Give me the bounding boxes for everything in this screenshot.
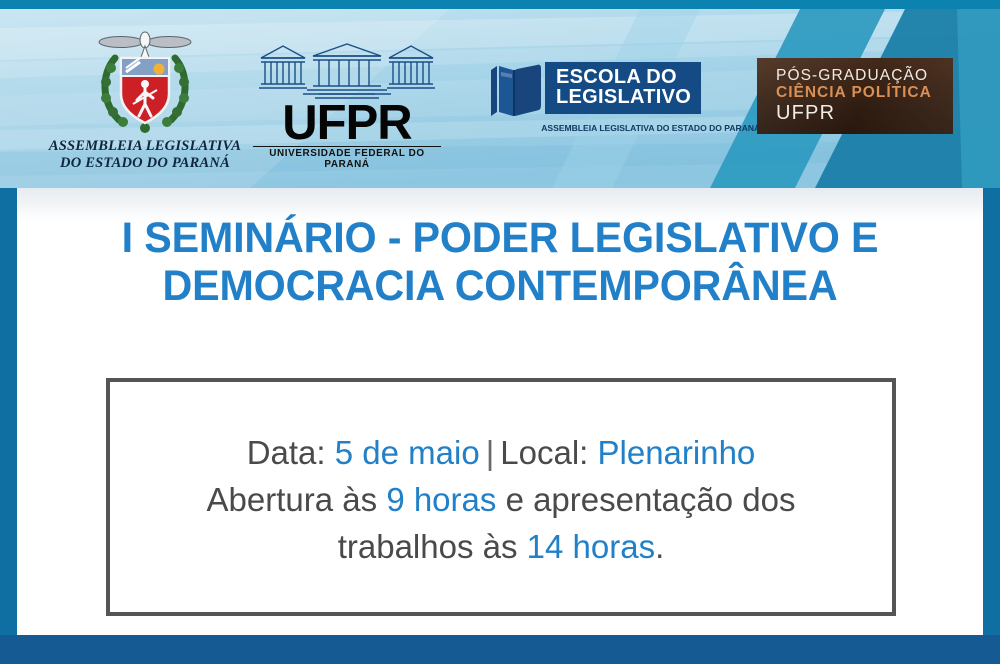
- pos-line-1: PÓS-GRADUAÇÃO: [776, 67, 953, 84]
- event-papers-line: trabalhos às 14 horas.: [110, 524, 892, 571]
- logo-pos-graduacao-ciencia-politica: PÓS-GRADUAÇÃO CIÊNCIA POLÍTICA UFPR: [757, 58, 953, 134]
- escola-line-1: ESCOLA DO: [556, 67, 691, 87]
- escola-line-2: LEGISLATIVO: [556, 87, 691, 107]
- ufpr-subtitle: UNIVERSIDADE FEDERAL DO PARANÁ: [253, 146, 441, 170]
- logo-assembleia-legislativa: ASSEMBLEIA LEGISLATIVA DO ESTADO DO PARA…: [45, 24, 245, 172]
- logo-escola-do-legislativo: ESCOLA DO LEGISLATIVO ASSEMBLEIA LEGISLA…: [487, 58, 717, 133]
- assembleia-logo-text: ASSEMBLEIA LEGISLATIVA DO ESTADO DO PARA…: [45, 138, 245, 172]
- event-date-location-line: Data: 5 de maio|Local: Plenarinho: [110, 430, 892, 477]
- poster-content: I SEMINÁRIO - PODER LEGISLATIVO E DEMOCR…: [17, 188, 983, 635]
- pos-line-3: UFPR: [776, 102, 953, 125]
- bottom-border-band: [0, 635, 1000, 664]
- logo-ufpr: UFPR UNIVERSIDADE FEDERAL DO PARANÁ: [252, 42, 442, 170]
- date-value: 5 de maio: [335, 434, 480, 471]
- escola-subtitle: ASSEMBLEIA LEGISLATIVA DO ESTADO DO PARA…: [541, 123, 718, 133]
- opening-suffix: e apresentação dos: [506, 481, 796, 518]
- header-top-strip: [0, 0, 1000, 9]
- escola-name-plate: ESCOLA DO LEGISLATIVO: [545, 62, 701, 114]
- ufpr-acronym: UFPR: [252, 101, 442, 146]
- event-details-text: Data: 5 de maio|Local: Plenarinho Abertu…: [110, 430, 892, 571]
- title-line-1: I SEMINÁRIO - PODER LEGISLATIVO E: [36, 214, 963, 262]
- detail-separator: |: [480, 434, 501, 471]
- event-opening-line: Abertura às 9 horas e apresentação dos: [110, 477, 892, 524]
- left-border-bar: [0, 188, 17, 635]
- papers-prefix: trabalhos às: [338, 528, 518, 565]
- event-poster: ASSEMBLEIA LEGISLATIVA DO ESTADO DO PARA…: [0, 0, 1000, 664]
- location-label: Local:: [500, 434, 588, 471]
- title-line-2: DEMOCRACIA CONTEMPORÂNEA: [36, 262, 963, 310]
- date-label: Data:: [247, 434, 326, 471]
- page-title: I SEMINÁRIO - PODER LEGISLATIVO E DEMOCR…: [36, 214, 963, 310]
- event-details-box: Data: 5 de maio|Local: Plenarinho Abertu…: [106, 378, 896, 616]
- parana-coat-of-arms-icon: [93, 24, 197, 136]
- pos-line-2: CIÊNCIA POLÍTICA: [776, 84, 953, 101]
- right-border-bar: [983, 188, 1000, 635]
- poster-header: ASSEMBLEIA LEGISLATIVA DO ESTADO DO PARA…: [0, 0, 1000, 188]
- papers-suffix: .: [655, 528, 664, 565]
- open-book-icon: [487, 58, 543, 120]
- opening-time: 9 horas: [386, 481, 496, 518]
- location-value: Plenarinho: [598, 434, 756, 471]
- papers-time: 14 horas: [527, 528, 655, 565]
- opening-prefix: Abertura às: [207, 481, 378, 518]
- ufpr-building-icon: [257, 42, 437, 102]
